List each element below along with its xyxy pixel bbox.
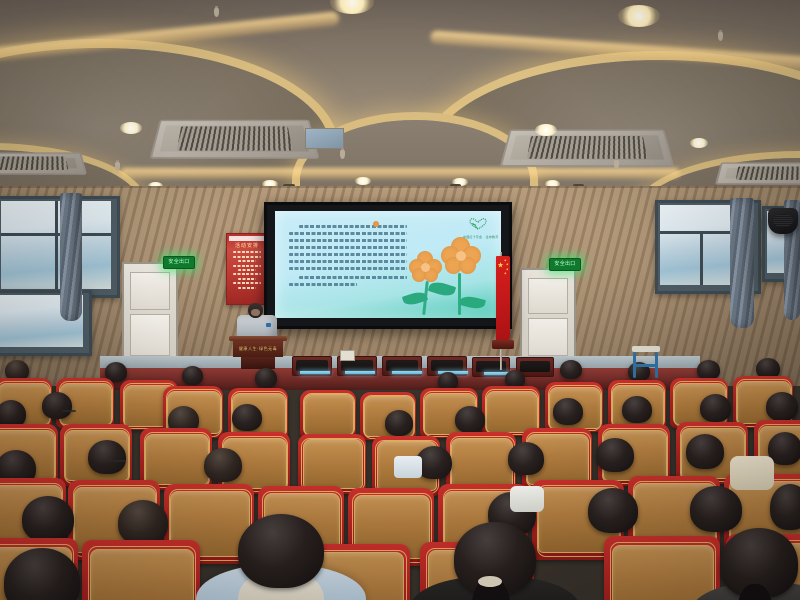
window-mullion	[700, 233, 703, 285]
audience-seating-area	[0, 358, 800, 600]
curtain-left[interactable]	[60, 193, 82, 321]
heart-leaf-emblem-icon	[463, 217, 493, 231]
supply-air-vent	[305, 128, 344, 149]
poster-line	[238, 260, 256, 262]
audience-head	[182, 366, 203, 385]
presenter-face	[251, 309, 260, 316]
foreground-person-right	[410, 524, 580, 600]
ac-grille	[176, 126, 292, 150]
presenter-badge	[266, 323, 271, 327]
wall-mounted-speaker	[768, 208, 798, 234]
lectern-inscription: 健康人生·绿色无毒	[239, 346, 277, 352]
cove-light-strip	[120, 168, 680, 179]
recessed-downlight	[690, 138, 708, 148]
white-garment	[510, 486, 544, 512]
audience-head	[118, 500, 168, 545]
audience-head	[232, 404, 262, 431]
audience-head	[766, 392, 798, 421]
speaker-at-podium	[237, 303, 277, 339]
exit-sign-left-label: 安全出口	[168, 260, 189, 265]
equipment-trolley[interactable]	[632, 346, 660, 380]
audience-head	[42, 392, 72, 419]
poster-line	[233, 282, 261, 284]
hair-tie	[478, 576, 502, 587]
eyeglasses	[62, 410, 76, 412]
flag-star-small	[506, 268, 509, 271]
door-left[interactable]	[122, 262, 178, 364]
audience-head	[553, 398, 583, 425]
poster-line	[238, 278, 256, 280]
recessed-downlight	[330, 0, 374, 14]
slide-text-line	[289, 232, 407, 235]
audience-head	[770, 484, 800, 530]
projection-screen: 中国红十字会 · 生命教育	[264, 202, 512, 329]
slide-text-line	[289, 239, 407, 242]
audience-head	[596, 438, 634, 472]
white-bag	[394, 456, 422, 478]
exit-sign-right: 安全出口	[549, 258, 581, 271]
poster-header-band	[229, 236, 265, 241]
recessed-downlight	[120, 122, 142, 134]
slide-text-line	[289, 253, 407, 256]
lectern-front-panel: 健康人生·绿色无毒	[233, 341, 283, 357]
chinese-national-flag	[496, 256, 510, 342]
sprinkler-head	[614, 160, 619, 169]
audience-head	[690, 486, 742, 532]
slide-text-line	[299, 225, 407, 228]
window-mullion	[55, 201, 58, 289]
eyeglasses	[108, 460, 126, 462]
ac-grille	[527, 136, 647, 159]
recessed-downlight	[535, 124, 557, 136]
slide-body-text	[289, 225, 407, 290]
poster-line	[233, 265, 261, 267]
poster-line	[238, 269, 256, 271]
audience-head	[204, 448, 242, 482]
door-right[interactable]	[520, 268, 576, 364]
ac-grille	[0, 157, 68, 170]
audience-head	[697, 360, 720, 380]
sprinkler-head	[115, 162, 120, 171]
person-head	[238, 514, 324, 588]
recessed-downlight	[618, 5, 660, 27]
ceiling	[0, 0, 800, 195]
sprinkler-head	[718, 32, 723, 41]
slide-text-line	[289, 283, 357, 286]
trolley-shelf	[633, 364, 658, 367]
slide-text-line	[289, 246, 407, 249]
poster-line	[233, 256, 261, 258]
audience-head	[700, 394, 731, 422]
flag-star-small	[506, 263, 509, 266]
ac-cassette-left	[150, 120, 320, 159]
door-panel	[130, 314, 170, 356]
foreground-person-left	[0, 556, 120, 600]
audience-head	[686, 434, 724, 469]
poster-line	[238, 287, 256, 289]
audience-head	[88, 440, 126, 474]
audience-head	[560, 360, 582, 379]
slide-text-line	[289, 267, 407, 270]
sprinkler-head	[340, 150, 345, 159]
ac-cassette-far-left	[0, 152, 87, 174]
poster-line	[233, 273, 261, 275]
audience-head	[255, 368, 277, 388]
slide-text-line	[289, 260, 407, 263]
audience-head	[622, 396, 652, 423]
window-transom	[1, 233, 111, 236]
foreground-person-far-right	[690, 532, 800, 600]
door-panel	[130, 272, 170, 310]
red-wall-poster: 活动安排	[226, 233, 268, 305]
flower-blossom-small	[409, 251, 443, 283]
ac-cassette-far-right	[715, 162, 800, 184]
flower-illustration	[405, 235, 497, 317]
person-head	[4, 548, 80, 600]
audience-head	[455, 406, 485, 433]
audience-head	[588, 488, 638, 533]
ac-grille	[735, 167, 800, 180]
flower-leaf	[428, 279, 456, 298]
projected-slide: 中国红十字会 · 生命教育	[275, 211, 501, 318]
exit-sign-left: 安全出口	[163, 256, 195, 269]
audience-head	[22, 496, 74, 542]
audience-head	[508, 442, 544, 475]
auditorium-seat[interactable]	[300, 390, 356, 438]
flower-leaf	[459, 294, 486, 311]
flower-stem	[458, 273, 461, 315]
recessed-downlight	[355, 177, 371, 185]
exit-sign-right-label: 安全出口	[554, 262, 575, 267]
flag-star-large	[498, 262, 504, 268]
flower-blossom-large	[441, 237, 481, 275]
door-panel	[528, 318, 568, 356]
poster-title: 活动安排	[227, 242, 267, 249]
flag-stand	[492, 340, 514, 349]
flag-star-small	[504, 272, 507, 275]
sprinkler-head	[214, 8, 219, 17]
foreground-person-center	[196, 518, 366, 600]
poster-line	[233, 251, 261, 253]
flower-bud	[373, 221, 379, 227]
audience-head	[385, 410, 413, 436]
curtain-right[interactable]	[730, 198, 754, 328]
slide-text-line	[299, 276, 407, 279]
auditorium-seat[interactable]	[298, 434, 366, 494]
door-panel	[528, 278, 568, 314]
wall-seam	[0, 186, 800, 188]
cream-jacket	[730, 456, 774, 490]
flag-star-small	[504, 259, 507, 262]
ac-cassette-right	[500, 129, 675, 166]
auditorium-photo: 安全出口 安全出口 活动安排	[0, 0, 800, 600]
